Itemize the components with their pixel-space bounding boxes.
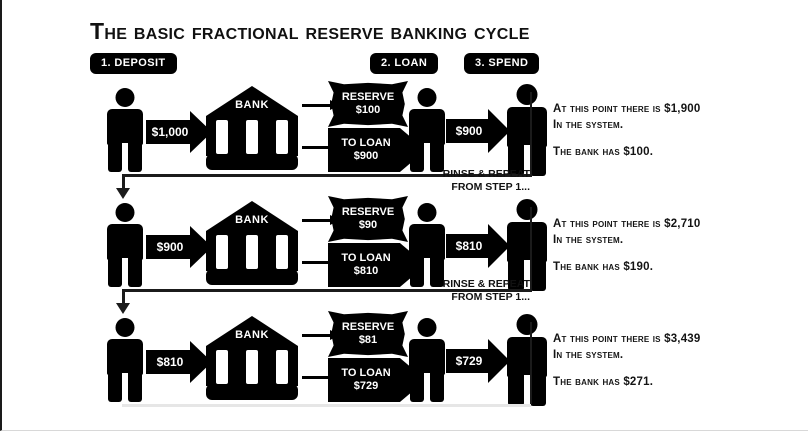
merchant-person-icon [506, 314, 548, 404]
deposit-amount-label: $810 [157, 355, 184, 369]
borrower-person-icon [408, 203, 446, 285]
spend-amount-label: $900 [456, 124, 483, 138]
deposit-amount-label: $900 [157, 240, 184, 254]
depositor-person-icon [106, 203, 144, 285]
reserve-title: RESERVE [342, 321, 394, 334]
loan-amount: $810 [354, 265, 400, 278]
rinse-repeat-line-2: FROM STEP 1... [420, 291, 530, 304]
rinse-repeat-line-1: RINSE & REPEAT [420, 168, 530, 181]
loan-title: TO LOAN [341, 252, 412, 265]
infographic-canvas: The Basic Fractional Reserve Banking Cyc… [0, 0, 808, 431]
bank-icon: BANK [206, 316, 298, 402]
bank-label: BANK [206, 99, 298, 111]
deposit-amount-label: $1,000 [152, 125, 189, 139]
reserve-amount: $81 [359, 334, 377, 347]
deposit-amount-arrow: $900 [146, 226, 212, 268]
spend-amount-label: $729 [456, 354, 483, 368]
depositor-person-icon [106, 88, 144, 170]
spend-amount-arrow: $900 [446, 109, 510, 153]
page-title: The Basic Fractional Reserve Banking Cyc… [90, 18, 530, 45]
rinse-repeat-line-2: FROM STEP 1... [420, 181, 530, 194]
caption-line-2: in the system. [553, 232, 701, 248]
bank-icon: BANK [206, 86, 298, 172]
deposit-amount-arrow: $810 [146, 341, 212, 383]
bank-label: BANK [206, 329, 298, 341]
bank-label: BANK [206, 214, 298, 226]
spend-amount-arrow: $729 [446, 339, 510, 383]
reserve-title: RESERVE [342, 91, 394, 104]
reserve-callout: RESERVE $100 [328, 81, 408, 127]
depositor-person-icon [106, 318, 144, 400]
caption-line-1: At this point there is $3,439 [553, 331, 701, 347]
reserve-amount: $90 [359, 219, 377, 232]
loan-title: TO LOAN [341, 367, 412, 380]
summary-caption: At this point there is $2,710 in the sys… [553, 216, 701, 275]
summary-caption: At this point there is $3,439 in the sys… [553, 331, 701, 390]
caption-line-3: The bank has $271. [553, 374, 701, 390]
step-badge-loan: 2. LOAN [370, 53, 438, 74]
caption-line-3: The bank has $100. [553, 144, 701, 160]
rinse-repeat-connector-final [122, 398, 532, 418]
summary-caption: At this point there is $1,900 in the sys… [553, 101, 701, 160]
reserve-title: RESERVE [342, 206, 394, 219]
loan-title: TO LOAN [341, 137, 412, 150]
caption-line-3: The bank has $190. [553, 259, 701, 275]
reserve-amount: $100 [356, 104, 380, 117]
borrower-person-icon [408, 318, 446, 400]
caption-line-1: At this point there is $2,710 [553, 216, 701, 232]
rinse-repeat-label: RINSE & REPEAT FROM STEP 1... [420, 168, 530, 194]
caption-line-2: in the system. [553, 117, 701, 133]
rinse-repeat-label: RINSE & REPEAT FROM STEP 1... [420, 278, 530, 304]
rinse-repeat-line-1: RINSE & REPEAT [420, 278, 530, 291]
merchant-person-icon [506, 84, 548, 174]
spend-amount-arrow: $810 [446, 224, 510, 268]
bank-icon: BANK [206, 201, 298, 287]
step-badge-deposit: 1. DEPOSIT [90, 53, 177, 74]
loan-amount: $729 [354, 380, 400, 393]
caption-line-1: At this point there is $1,900 [553, 101, 701, 117]
merchant-person-icon [506, 199, 548, 289]
deposit-amount-arrow: $1,000 [146, 111, 212, 153]
loan-amount: $900 [354, 150, 400, 163]
caption-line-2: in the system. [553, 347, 701, 363]
spend-amount-label: $810 [456, 239, 483, 253]
step-badge-spend: 3. SPEND [464, 53, 539, 74]
borrower-person-icon [408, 88, 446, 170]
